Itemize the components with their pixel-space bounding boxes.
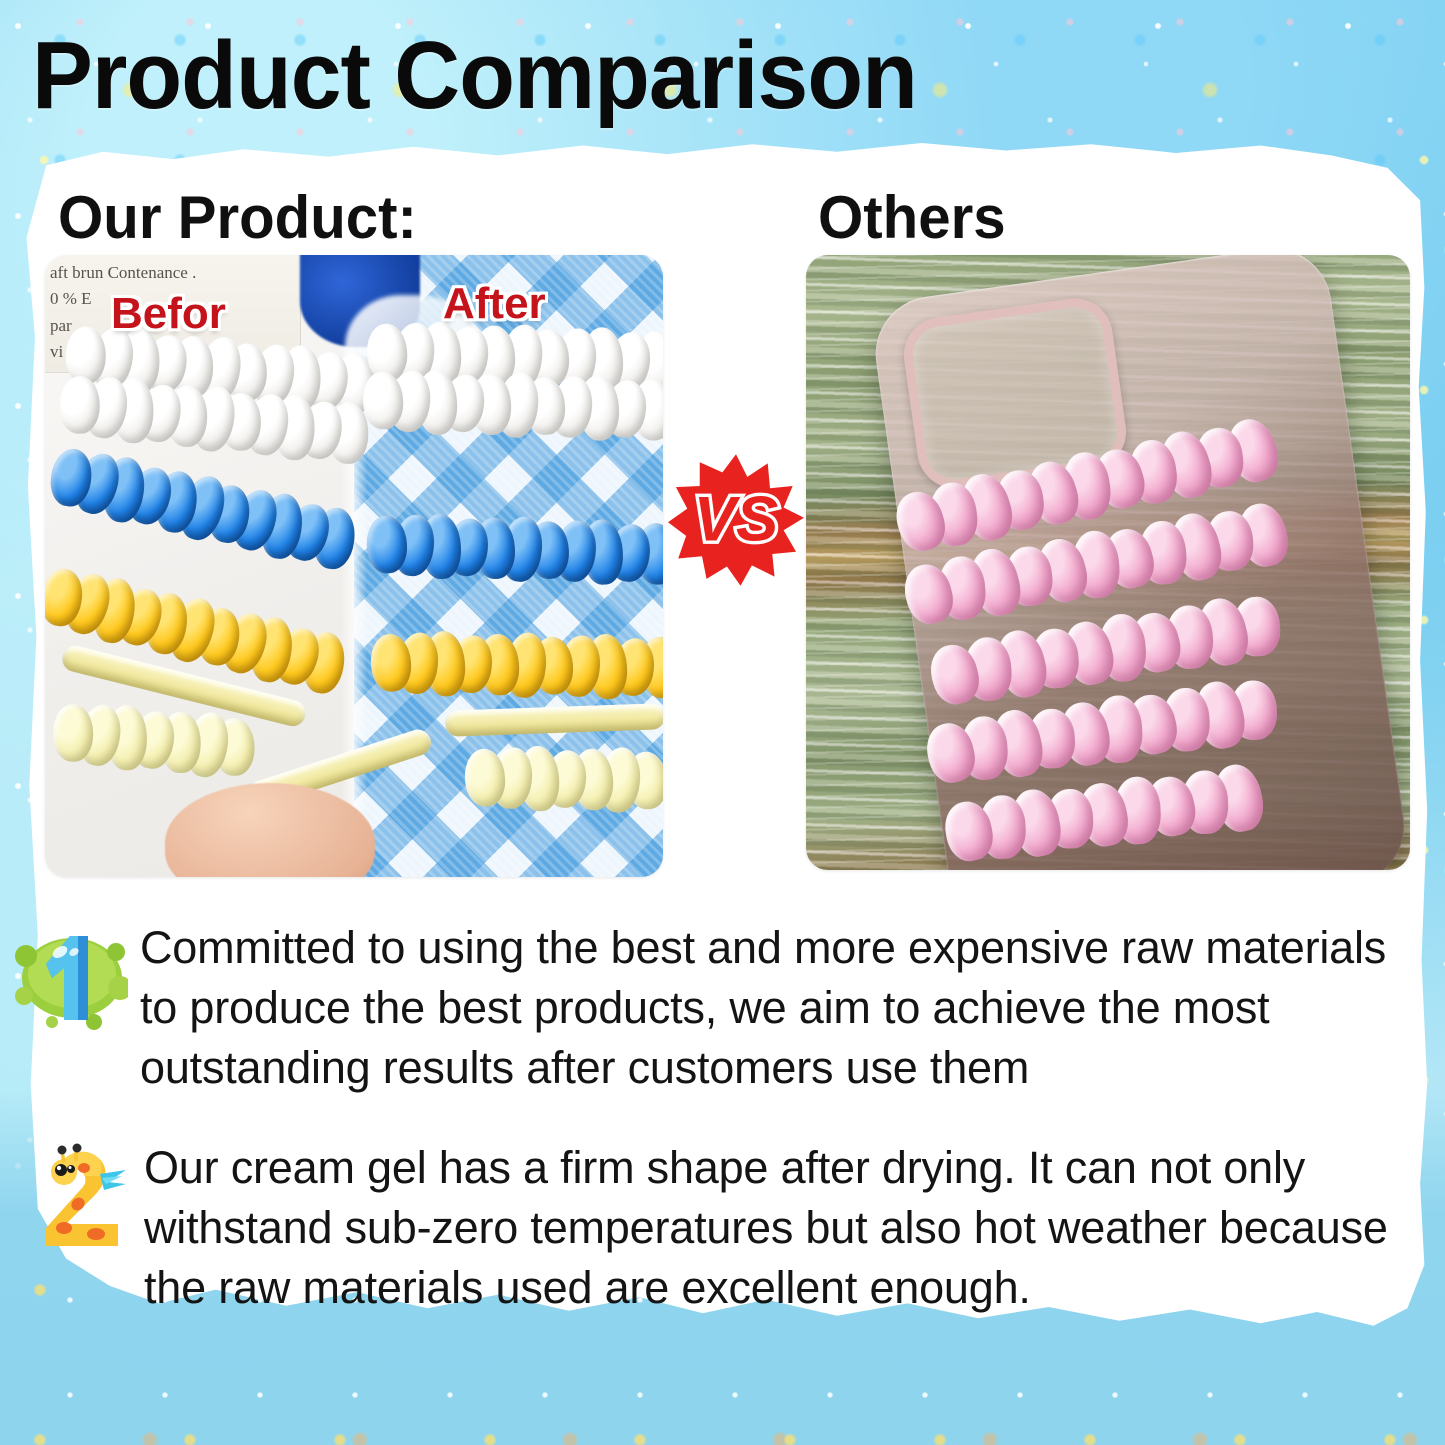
others-photo-scene (806, 255, 1410, 870)
cream-swirl (59, 376, 100, 434)
before-caption: Befor (111, 292, 226, 336)
cream-swirl (53, 704, 93, 762)
pale-cream-blob-row-after (464, 745, 663, 808)
number-one-green-bubble-icon (12, 926, 128, 1030)
feature-text-2: Our cream gel has a firm shape after dry… (144, 1138, 1404, 1318)
feature-text-1: Committed to using the best and more exp… (140, 918, 1405, 1098)
infographic-canvas: Product Comparison Our Product: Others a… (0, 0, 1445, 1445)
paper-label-line-1: aft brun Contenance . (50, 260, 292, 286)
our-product-photo: aft brun Contenance . 0 % E par vi (45, 255, 663, 877)
column-heading-our-product: Our Product: (58, 188, 417, 248)
number-two-giraffe-icon (38, 1140, 130, 1252)
after-caption: After (443, 282, 546, 326)
feature-item-1: Committed to using the best and more exp… (12, 918, 1412, 1098)
starburst-icon: VS (668, 452, 804, 588)
yellow-cream-row-after (371, 630, 663, 691)
versus-badge: VS (668, 452, 804, 588)
blue-cream-row-after (366, 512, 663, 576)
page-title: Product Comparison (32, 28, 917, 124)
column-heading-others: Others (818, 188, 1006, 248)
our-product-photo-scene: aft brun Contenance . 0 % E par vi (45, 255, 663, 877)
versus-badge-label: VS (694, 484, 779, 554)
others-photo (806, 255, 1410, 870)
feature-item-2: Our cream gel has a firm shape after dry… (38, 1138, 1413, 1318)
white-cream-row-after-bottom (362, 368, 663, 443)
